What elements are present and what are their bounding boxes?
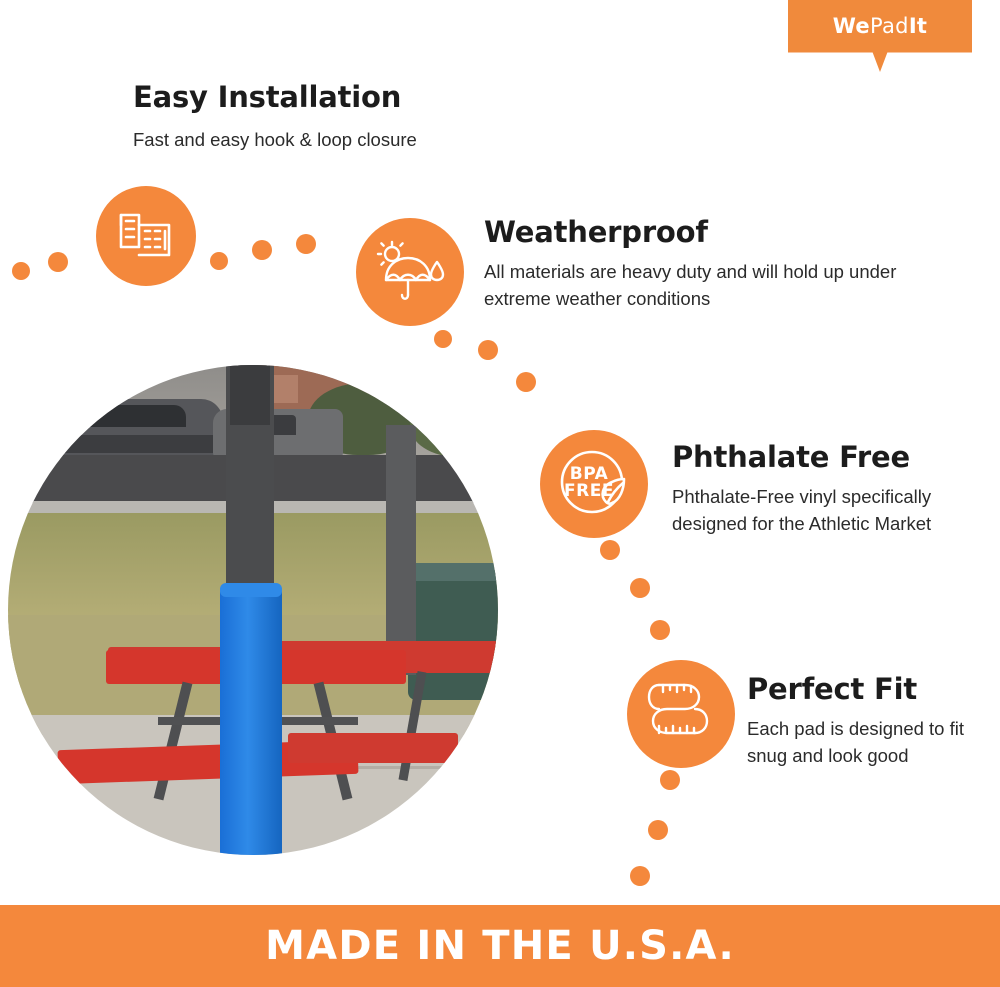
trail-dot <box>210 252 228 270</box>
feature-desc-easy-installation: Fast and easy hook & loop closure <box>133 126 553 153</box>
feature-desc-weatherproof: All materials are heavy duty and will ho… <box>484 258 914 312</box>
trail-dot <box>660 770 680 790</box>
brand-logo: WePadIt <box>788 0 972 72</box>
photo-bench-front-right <box>288 733 458 763</box>
trail-dot <box>516 372 536 392</box>
trail-dot <box>648 820 668 840</box>
trail-dot <box>252 240 272 260</box>
photo-car-body <box>24 435 239 453</box>
photo-pole-right <box>386 425 416 675</box>
bpa-line-2: FREE <box>564 481 614 501</box>
bpa-free-leaf-icon: BPA FREE <box>540 430 648 538</box>
umbrella-sun-rain-icon <box>356 218 464 326</box>
logo-text: WePadIt <box>788 14 972 38</box>
logo-text-pad: Pad <box>870 14 909 38</box>
trail-dot <box>48 252 68 272</box>
trail-dot <box>650 620 670 640</box>
feature-title-perfect-fit: Perfect Fit <box>747 672 917 706</box>
product-photo <box>8 365 498 855</box>
logo-text-it: It <box>909 14 927 38</box>
photo-trash-barrel-rim <box>404 563 498 581</box>
made-in-usa-banner: MADE IN THE U.S.A. <box>0 905 1000 987</box>
photo-blue-pole-pad-top <box>220 583 282 597</box>
measuring-tape-icon <box>627 660 735 768</box>
feature-desc-phthalate-free: Phthalate-Free vinyl specifically design… <box>672 483 942 537</box>
made-in-usa-text: MADE IN THE U.S.A. <box>265 923 735 969</box>
trail-dot <box>478 340 498 360</box>
building-install-icon <box>96 186 196 286</box>
feature-title-weatherproof: Weatherproof <box>484 215 708 249</box>
trail-dot <box>630 866 650 886</box>
photo-pole-top <box>230 365 270 425</box>
trail-dot <box>434 330 452 348</box>
feature-title-phthalate-free: Phthalate Free <box>672 440 910 474</box>
photo-scene <box>8 365 498 855</box>
feature-desc-perfect-fit: Each pad is designed to fit snug and loo… <box>747 715 977 769</box>
trail-dot <box>296 234 316 254</box>
trail-dot <box>630 578 650 598</box>
trail-dot <box>12 262 30 280</box>
trail-dot <box>600 540 620 560</box>
photo-blue-pole-pad <box>220 587 282 855</box>
photo-tree-2 <box>410 395 498 457</box>
photo-car-window <box>66 405 186 427</box>
logo-text-we: We <box>833 14 870 38</box>
product-feature-infographic: WePadIt Easy Installation Fast and easy … <box>0 0 1000 987</box>
bpa-free-label: BPA FREE <box>556 466 622 500</box>
feature-title-easy-installation: Easy Installation <box>133 80 401 114</box>
